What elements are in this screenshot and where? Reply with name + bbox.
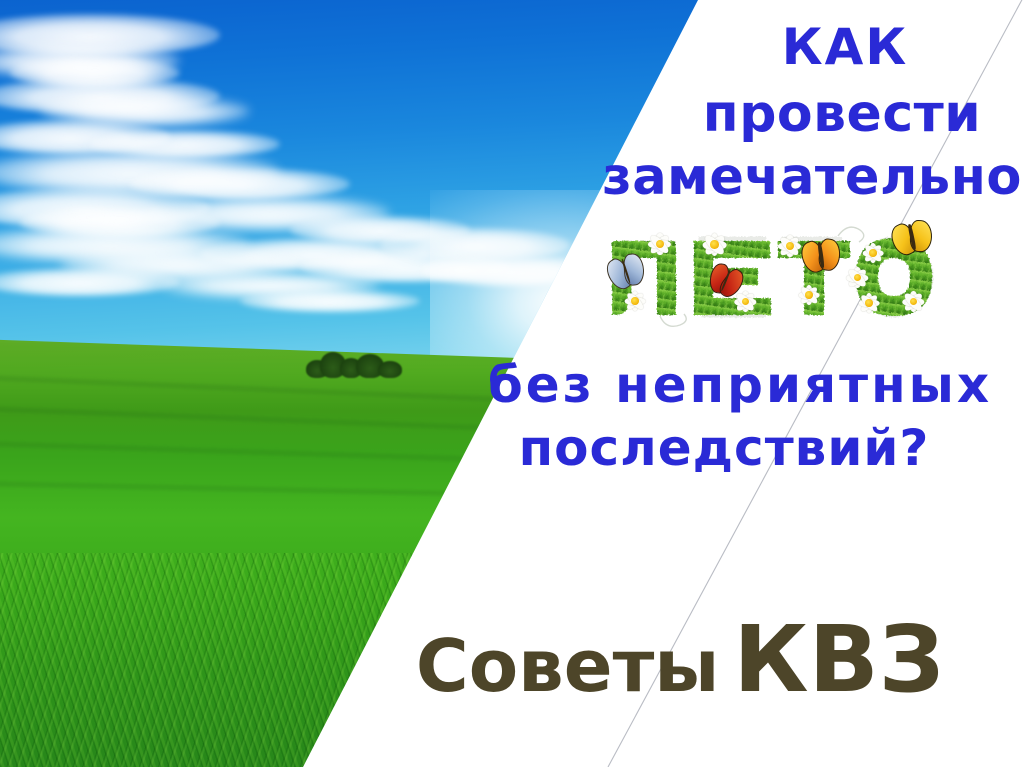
footer-word-2: КВЗ [733, 606, 944, 713]
footer-word-1: Советы [416, 624, 720, 708]
cloud [420, 256, 600, 286]
presentation-slide: КАК провести замечательно [0, 0, 1024, 767]
headline-line-2: провести [330, 88, 1024, 140]
headline-line-1: КАК [333, 22, 1024, 72]
footer-credit: СоветыКВЗ [168, 614, 1024, 706]
subhead-line-2: последствий? [212, 423, 1024, 473]
headline-line-3: замечательно [300, 152, 1024, 203]
leto-wordart [606, 218, 940, 326]
subhead-line-1: без неприятных [228, 360, 1024, 410]
cloud [240, 290, 420, 312]
